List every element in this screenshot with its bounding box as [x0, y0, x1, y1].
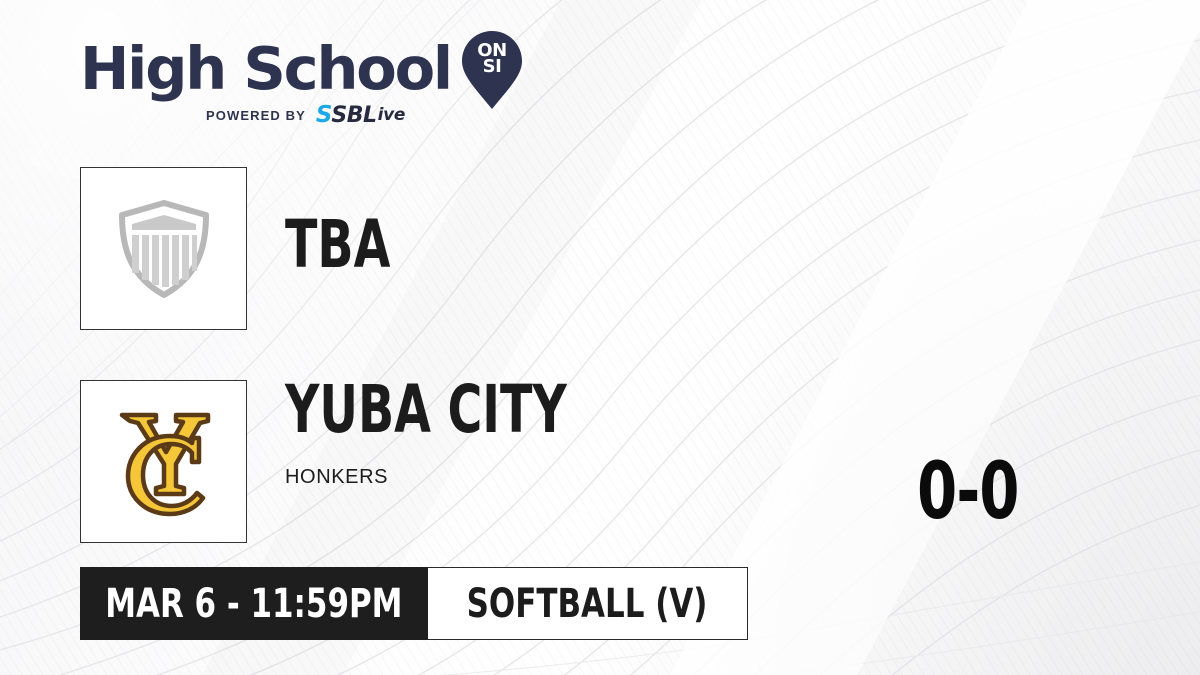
game-datetime-block: MAR 6 - 11:59PM: [80, 567, 428, 640]
sblive-wordmark-main: SBL: [331, 105, 376, 127]
team-mascot: HONKERS: [285, 466, 637, 489]
game-datetime-text: MAR 6 - 11:59PM: [105, 584, 402, 624]
game-preview-card: High School ON SI POWERED BY S SBL ive: [0, 0, 1200, 675]
powered-by-label: POWERED BY: [206, 108, 306, 123]
yuba-city-yc-monogram-icon: [108, 402, 220, 522]
sblive-s-mark: S: [316, 104, 331, 127]
team-info: TBA: [285, 215, 417, 275]
team-info: YUBA CITY HONKERS: [285, 380, 637, 489]
brand-wordmark: High School ON SI: [80, 36, 510, 100]
score-value: 0-0: [917, 455, 1019, 529]
game-info-bar: MAR 6 - 11:59PM SOFTBALL (V): [80, 567, 748, 640]
map-pin-label: ON SI: [462, 43, 522, 75]
sblive-logo: S SBL ive: [316, 104, 405, 127]
game-sport-text: SOFTBALL (V): [467, 584, 708, 624]
placeholder-shield-icon: [116, 199, 212, 299]
team-logo-box: [80, 380, 247, 543]
game-sport-block: SOFTBALL (V): [428, 567, 748, 640]
map-pin-icon: ON SI: [462, 31, 522, 109]
brand-header: High School ON SI POWERED BY S SBL ive: [80, 36, 510, 136]
scoreboard: 0-0: [860, 455, 1076, 529]
brand-title: High School: [80, 39, 451, 98]
team-name: YUBA CITY: [285, 380, 567, 440]
team-logo-box: [80, 167, 247, 330]
team-name: TBA: [285, 215, 390, 275]
sblive-wordmark-tail: ive: [378, 107, 406, 124]
map-pin-label-line2: SI: [483, 56, 502, 77]
